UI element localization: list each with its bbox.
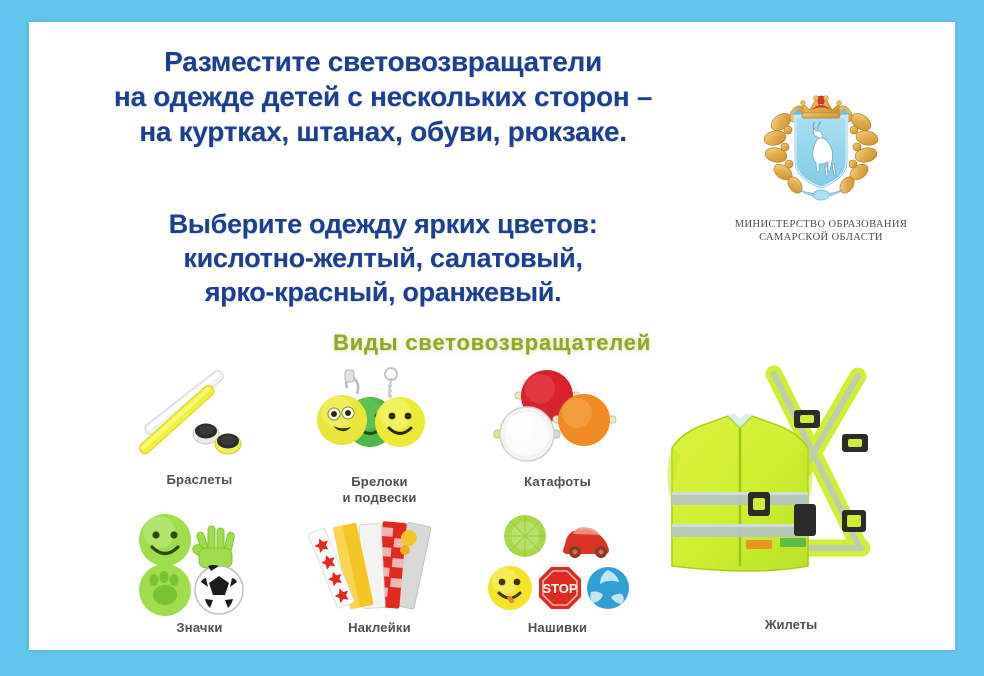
type-item-keychains: Брелоки и подвески [287, 364, 472, 506]
subheadline-block: Выберите одежду ярких цветов: кислотно-ж… [53, 207, 713, 309]
type-label-bracelets: Браслеты [107, 472, 292, 488]
samara-oblast-coat-of-arms-icon [755, 80, 887, 212]
ministry-caption: МИНИСТЕРСТВО ОБРАЗОВАНИЯ САМАРСКОЙ ОБЛАС… [701, 218, 941, 244]
bracelets-illustration [107, 362, 292, 470]
subheadline-line-2: кислотно-желтый, салатовый, [53, 241, 713, 275]
catphotes-illustration [465, 364, 650, 472]
type-item-badges: Значки [107, 510, 292, 636]
svg-text:STOP: STOP [542, 581, 577, 596]
headline-line-3: на куртках, штанах, обуви, рюкзаке. [53, 114, 713, 149]
patches-illustration: STOP [465, 510, 650, 618]
ministry-caption-line-2: САМАРСКОЙ ОБЛАСТИ [701, 231, 941, 244]
headline-block: Разместите световозвращатели на одежде д… [53, 44, 713, 149]
type-item-patches: STOP Нашивки [465, 510, 650, 636]
type-item-catphotes: Катафоты [465, 364, 650, 490]
type-label-keychains-line1: Брелоки [287, 474, 472, 490]
poster-sheet: Разместите световозвращатели на одежде д… [29, 22, 955, 650]
type-label-badges: Значки [107, 620, 292, 636]
poster-root: Разместите световозвращатели на одежде д… [0, 0, 984, 676]
vests-illustration [646, 352, 936, 610]
type-label-keychains: Брелоки и подвески [287, 474, 472, 506]
reflector-types-grid: Браслеты [107, 362, 667, 642]
type-label-keychains-line2: и подвески [287, 490, 472, 506]
keychains-illustration [287, 364, 472, 472]
subheadline-line-3: ярко-красный, оранжевый. [53, 275, 713, 309]
badges-illustration [107, 510, 292, 618]
type-item-stickers: Наклейки [287, 510, 472, 636]
type-label-vests: Жилеты [641, 617, 941, 632]
type-item-bracelets: Браслеты [107, 362, 292, 488]
ministry-caption-line-1: МИНИСТЕРСТВО ОБРАЗОВАНИЯ [701, 218, 941, 231]
type-item-vests: Жилеты [641, 352, 941, 632]
type-label-stickers: Наклейки [287, 620, 472, 636]
type-label-patches: Нашивки [465, 620, 650, 636]
type-label-catphotes: Катафоты [465, 474, 650, 490]
headline-line-1: Разместите световозвращатели [53, 44, 713, 79]
headline-line-2: на одежде детей с нескольких сторон – [53, 79, 713, 114]
subheadline-line-1: Выберите одежду ярких цветов: [53, 207, 713, 241]
ministry-emblem-block: МИНИСТЕРСТВО ОБРАЗОВАНИЯ САМАРСКОЙ ОБЛАС… [701, 80, 941, 244]
stickers-illustration [287, 510, 472, 618]
